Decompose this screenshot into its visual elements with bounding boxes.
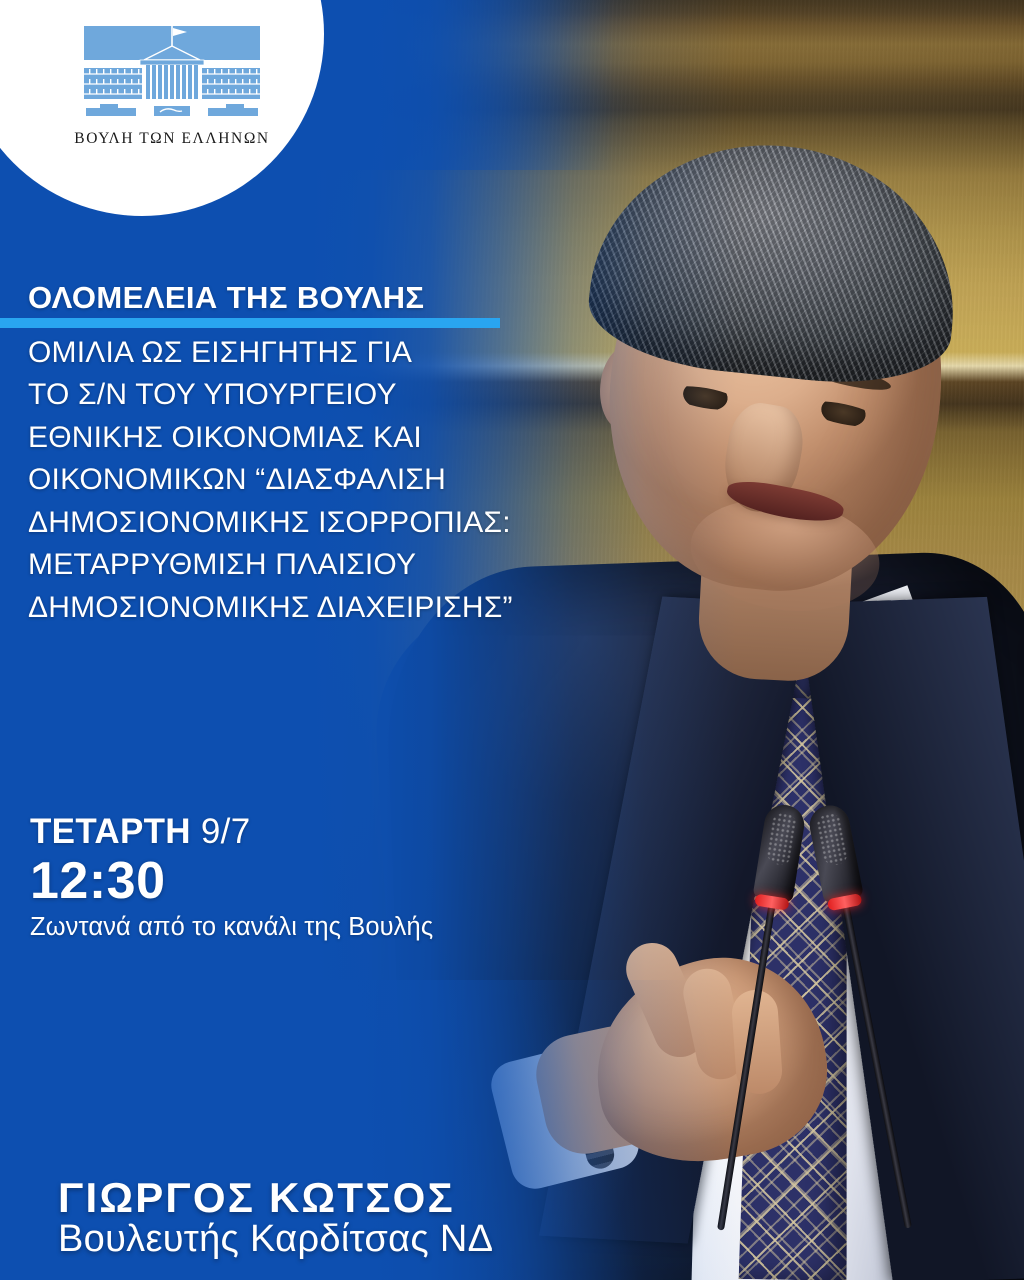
subtitle-line: ΜΕΤΑΡΡΥΘΜΙΣΗ ΠΛΑΙΣΙΟΥ	[28, 544, 668, 586]
subtitle-line: ΤΟ Σ/Ν ΤΟΥ ΥΠΟΥΡΓΕΙΟΥ	[28, 374, 668, 416]
headline-block: ΟΛΟΜΕΛΕΙΑ ΤΗΣ ΒΟΥΛΗΣ	[28, 282, 648, 318]
speaker-role: Βουλευτής Καρδίτσας ΝΔ	[58, 1219, 493, 1260]
schedule-day-row: ΤΕΤΑΡΤΗ 9/7	[30, 812, 433, 852]
schedule-block: ΤΕΤΑΡΤΗ 9/7 12:30 Ζωντανά από το κανάλι …	[30, 812, 433, 942]
speaker-name: ΓΙΩΡΓΟΣ ΚΩΤΣΟΣ	[58, 1176, 493, 1221]
speaker-block: ΓΙΩΡΓΟΣ ΚΩΤΣΟΣ Βουλευτής Καρδίτσας ΝΔ	[58, 1176, 493, 1260]
subtitle-line: ΔΗΜΟΣΙΟΝΟΜΙΚΗΣ ΔΙΑΧΕΙΡΙΣΗΣ”	[28, 587, 668, 629]
announcement-poster: ΒΟΥΛΗ ΤΩΝ ΕΛΛΗΝΩΝ ΟΛΟΜΕΛΕΙΑ ΤΗΣ ΒΟΥΛΗΣ Ο…	[0, 0, 1024, 1280]
schedule-date: 9/7	[201, 812, 251, 851]
subtitle-line: ΟΙΚΟΝΟΜΙΚΩΝ “ΔΙΑΣΦΑΛΙΣΗ	[28, 459, 668, 501]
schedule-time: 12:30	[30, 854, 433, 909]
subtitle-line: ΔΗΜΟΣΙΟΝΟΜΙΚΗΣ ΙΣΟΡΡΟΠΙΑΣ:	[28, 502, 668, 544]
page-title: ΟΛΟΜΕΛΕΙΑ ΤΗΣ ΒΟΥΛΗΣ	[28, 282, 424, 318]
schedule-weekday: ΤΕΤΑΡΤΗ	[30, 812, 191, 851]
subtitle-line: ΕΘΝΙΚΗΣ ΟΙΚΟΝΟΜΙΑΣ ΚΑΙ	[28, 417, 668, 459]
subtitle-block: ΟΜΙΛΙΑ ΩΣ ΕΙΣΗΓΗΤΗΣ ΓΙΑ ΤΟ Σ/Ν ΤΟΥ ΥΠΟΥΡ…	[28, 332, 668, 629]
live-broadcast-note: Ζωντανά από το κανάλι της Βουλής	[30, 913, 433, 942]
poster-content: ΟΛΟΜΕΛΕΙΑ ΤΗΣ ΒΟΥΛΗΣ ΟΜΙΛΙΑ ΩΣ ΕΙΣΗΓΗΤΗΣ…	[0, 0, 1024, 1280]
headline-underline	[0, 318, 500, 328]
subtitle-line: ΟΜΙΛΙΑ ΩΣ ΕΙΣΗΓΗΤΗΣ ΓΙΑ	[28, 332, 668, 374]
